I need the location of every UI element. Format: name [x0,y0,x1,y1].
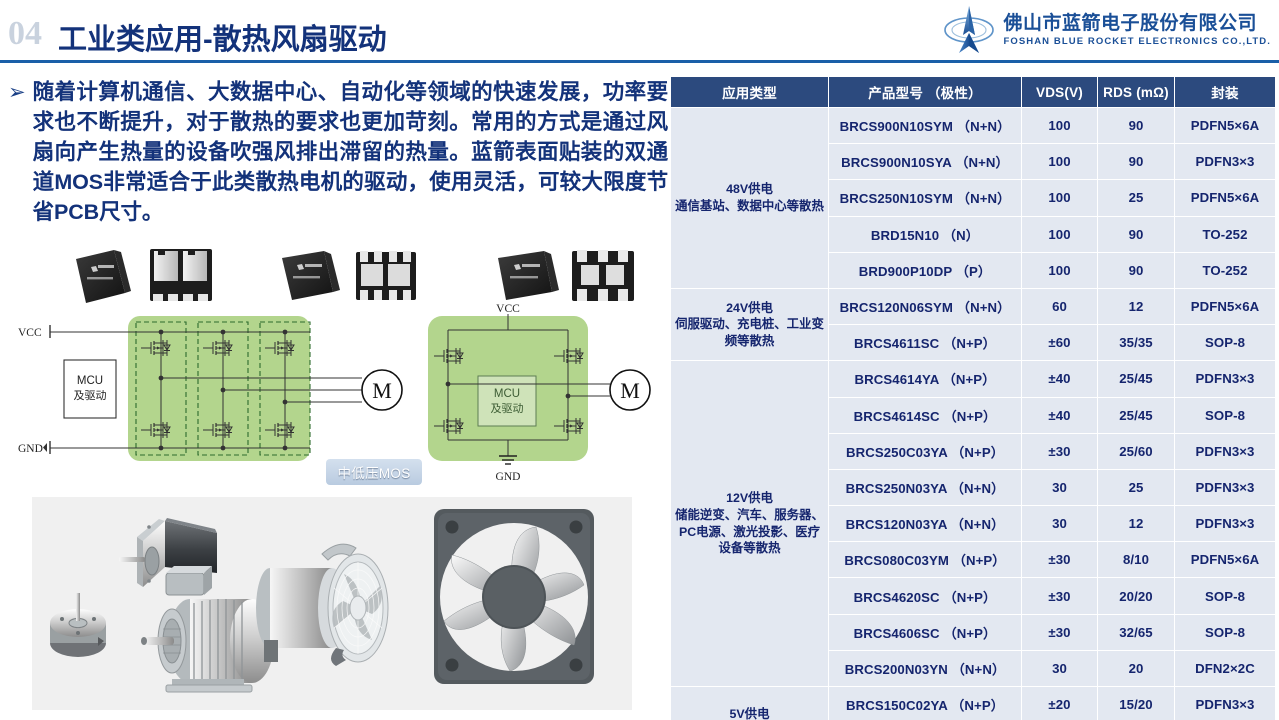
cell-package: SOP-8 [1175,578,1275,613]
cell-package: PDFN3×3 [1175,144,1275,179]
vcc-label-left: VCC [18,327,42,339]
table-header-row: 应用类型 产品型号 （极性） VDS(V) RDS (mΩ) 封装 [671,77,1275,107]
cell-rds: 15/20 [1098,687,1174,720]
table-row: 48V供电通信基站、数据中心等散热BRCS900N10SYM （N+N）1009… [671,108,1275,143]
cell-package: SOP-8 [1175,615,1275,650]
table-body: 48V供电通信基站、数据中心等散热BRCS900N10SYM （N+N）1009… [671,108,1275,720]
gnd-label-left: GND [18,443,43,455]
cell-part-number: BRCS080C03YM （N+P） [829,542,1021,577]
cell-part-number: BRCS4620SC （N+P） [829,578,1021,613]
gnd-label-right: GND [496,471,521,483]
square-cooling-fan-photo [434,509,594,684]
cell-rds: 20 [1098,651,1174,686]
cell-part-number: BRD15N10 （N） [829,217,1021,252]
cell-vds: ±40 [1022,398,1097,433]
header-divider [0,60,1279,63]
cell-package: TO-252 [1175,217,1275,252]
cell-part-number: BRCS900N10SYM （N+N） [829,108,1021,143]
cell-package: SOP-8 [1175,398,1275,433]
cell-package: PDFN3×3 [1175,687,1275,720]
cell-package: PDFN3×3 [1175,434,1275,469]
cell-package: PDFN3×3 [1175,470,1275,505]
col-header-rds: RDS (mΩ) [1098,77,1174,107]
cell-vds: 30 [1022,470,1097,505]
cell-package: PDFN5×6A [1175,180,1275,215]
cell-rds: 90 [1098,217,1174,252]
cell-rds: 90 [1098,144,1174,179]
intro-paragraph-block: ➢ 随着计算机通信、大数据中心、自动化等领域的快速发展，功率要求也不断提升，对于… [8,78,668,227]
col-header-package: 封装 [1175,77,1275,107]
application-group-cell: 24V供电伺服驱动、充电桩、工业变频等散热 [671,289,828,360]
cell-package: DFN2×2C [1175,651,1275,686]
mos-badge: 中低压MOS [326,459,422,485]
section-number: 04 [8,15,42,53]
application-group-cell: 48V供电通信基站、数据中心等散热 [671,108,828,288]
col-header-vds: VDS(V) [1022,77,1097,107]
cell-part-number: BRCS4614YA （N+P） [829,361,1021,396]
cell-rds: 12 [1098,289,1174,324]
product-table: 应用类型 产品型号 （极性） VDS(V) RDS (mΩ) 封装 48V供电通… [670,76,1276,720]
col-header-application: 应用类型 [671,77,828,107]
mcu-label-right-line1: MCU [494,388,520,400]
table-row: 12V供电储能逆变、汽车、服务器、PC电源、激光投影、医疗设备等散热BRCS46… [671,361,1275,396]
cell-package: SOP-8 [1175,325,1275,360]
cell-vds: 30 [1022,506,1097,541]
cell-part-number: BRCS4611SC （N+P） [829,325,1021,360]
vcc-label-right: VCC [496,303,520,315]
cell-package: PDFN3×3 [1175,506,1275,541]
cell-vds: 30 [1022,651,1097,686]
cell-package: PDFN5×6A [1175,289,1275,324]
mcu-label-left-line2: 及驱动 [74,389,107,402]
col-header-part-number: 产品型号 （极性） [829,77,1021,107]
cell-package: PDFN3×3 [1175,361,1275,396]
cell-part-number: BRCS120N03YA （N+N） [829,506,1021,541]
company-logo: 佛山市蓝箭电子股份有限公司 FOSHAN BLUE ROCKET ELECTRO… [943,5,1271,55]
cell-rds: 90 [1098,108,1174,143]
cell-rds: 25/45 [1098,398,1174,433]
cell-rds: 25/45 [1098,361,1174,396]
mcu-label-left-line1: MCU [77,375,103,387]
intro-paragraph-text: 随着计算机通信、大数据中心、自动化等领域的快速发展，功率要求也不断提升，对于散热… [33,78,668,227]
cell-vds: 100 [1022,217,1097,252]
table-row: 5V供电笔电、便携式设备散热BRCS150C02YA （N+P）±2015/20… [671,687,1275,720]
cell-part-number: BRCS200N03YN （N+N） [829,651,1021,686]
application-group-cell: 12V供电储能逆变、汽车、服务器、PC电源、激光投影、医疗设备等散热 [671,361,828,686]
application-group-cell: 5V供电笔电、便携式设备散热 [671,687,828,720]
cell-vds: ±40 [1022,361,1097,396]
cell-rds: 8/10 [1098,542,1174,577]
cell-part-number: BRD900P10DP （P） [829,253,1021,288]
cell-part-number: BRCS900N10SYA （N+N） [829,144,1021,179]
company-name-en: FOSHAN BLUE ROCKET ELECTRONICS CO.,LTD. [1003,37,1271,47]
cell-vds: ±20 [1022,687,1097,720]
cell-vds: ±30 [1022,434,1097,469]
cell-vds: ±60 [1022,325,1097,360]
table-row: 24V供电伺服驱动、充电桩、工业变频等散热BRCS120N06SYM （N+N）… [671,289,1275,324]
cell-vds: ±30 [1022,615,1097,650]
cell-rds: 90 [1098,253,1174,288]
cell-part-number: BRCS120N06SYM （N+N） [829,289,1021,324]
slide-root: 04 工业类应用-散热风扇驱动 [0,0,1279,720]
cell-part-number: BRCS250C03YA （N+P） [829,434,1021,469]
company-name-cn: 佛山市蓝箭电子股份有限公司 [1003,14,1271,33]
cell-rds: 20/20 [1098,578,1174,613]
cell-vds: 100 [1022,108,1097,143]
cell-vds: ±30 [1022,542,1097,577]
cell-vds: 100 [1022,180,1097,215]
page-title: 工业类应用-散热风扇驱动 [58,16,387,58]
cell-rds: 25 [1098,470,1174,505]
cell-vds: ±30 [1022,578,1097,613]
cell-package: PDFN5×6A [1175,108,1275,143]
cell-vds: 100 [1022,144,1097,179]
package-photo-dfn2x2c-6l [492,248,642,304]
cell-vds: 100 [1022,253,1097,288]
cell-part-number: BRCS250N03YA （N+N） [829,470,1021,505]
cell-rds: 25 [1098,180,1174,215]
cell-vds: 60 [1022,289,1097,324]
cell-package: PDFN5×6A [1175,542,1275,577]
cell-package: TO-252 [1175,253,1275,288]
cell-rds: 12 [1098,506,1174,541]
cell-part-number: BRCS4614SC （N+P） [829,398,1021,433]
mcu-label-right-line2: 及驱动 [491,402,524,415]
cell-rds: 25/60 [1098,434,1174,469]
package-photo-pdfn5x6a [68,247,258,305]
cell-part-number: BRCS4606SC （N+P） [829,615,1021,650]
application-photo-strip [32,497,632,710]
blue-rocket-arrow-icon [943,5,995,55]
motor-label-right: M [620,378,640,403]
package-photo-pdfn3x3-8l [276,248,428,304]
cell-part-number: BRCS250N10SYM （N+N） [829,180,1021,215]
cell-rds: 35/35 [1098,325,1174,360]
motor-label-left: M [372,378,392,403]
bullet-arrow-icon: ➢ [8,78,26,227]
cell-part-number: BRCS150C02YA （N+P） [829,687,1021,720]
cell-rds: 32/65 [1098,615,1174,650]
